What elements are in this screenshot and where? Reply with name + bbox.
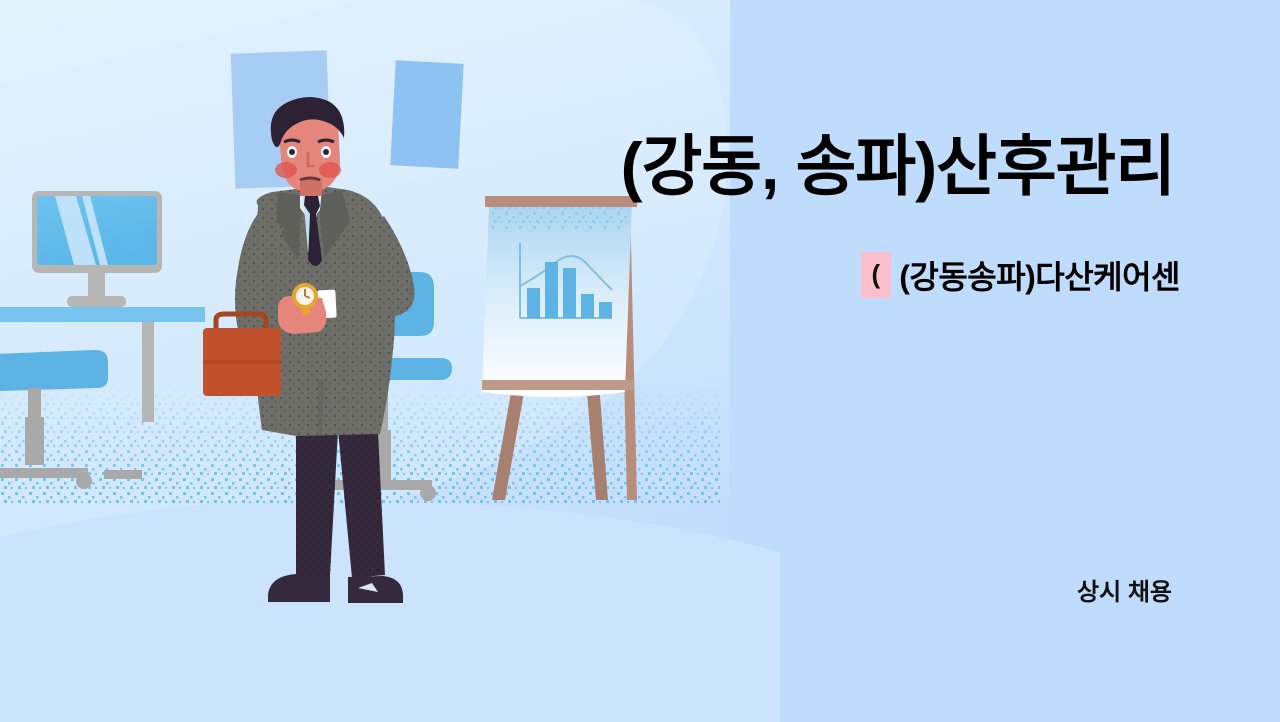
job-posting-poster: (강동, 송파)산후관리 ( (강동송파)다산케어센 상시 채용 [0,0,1280,722]
wall-poster-small [390,60,463,168]
office-illustration [0,0,1280,722]
floor-shape [0,499,780,722]
